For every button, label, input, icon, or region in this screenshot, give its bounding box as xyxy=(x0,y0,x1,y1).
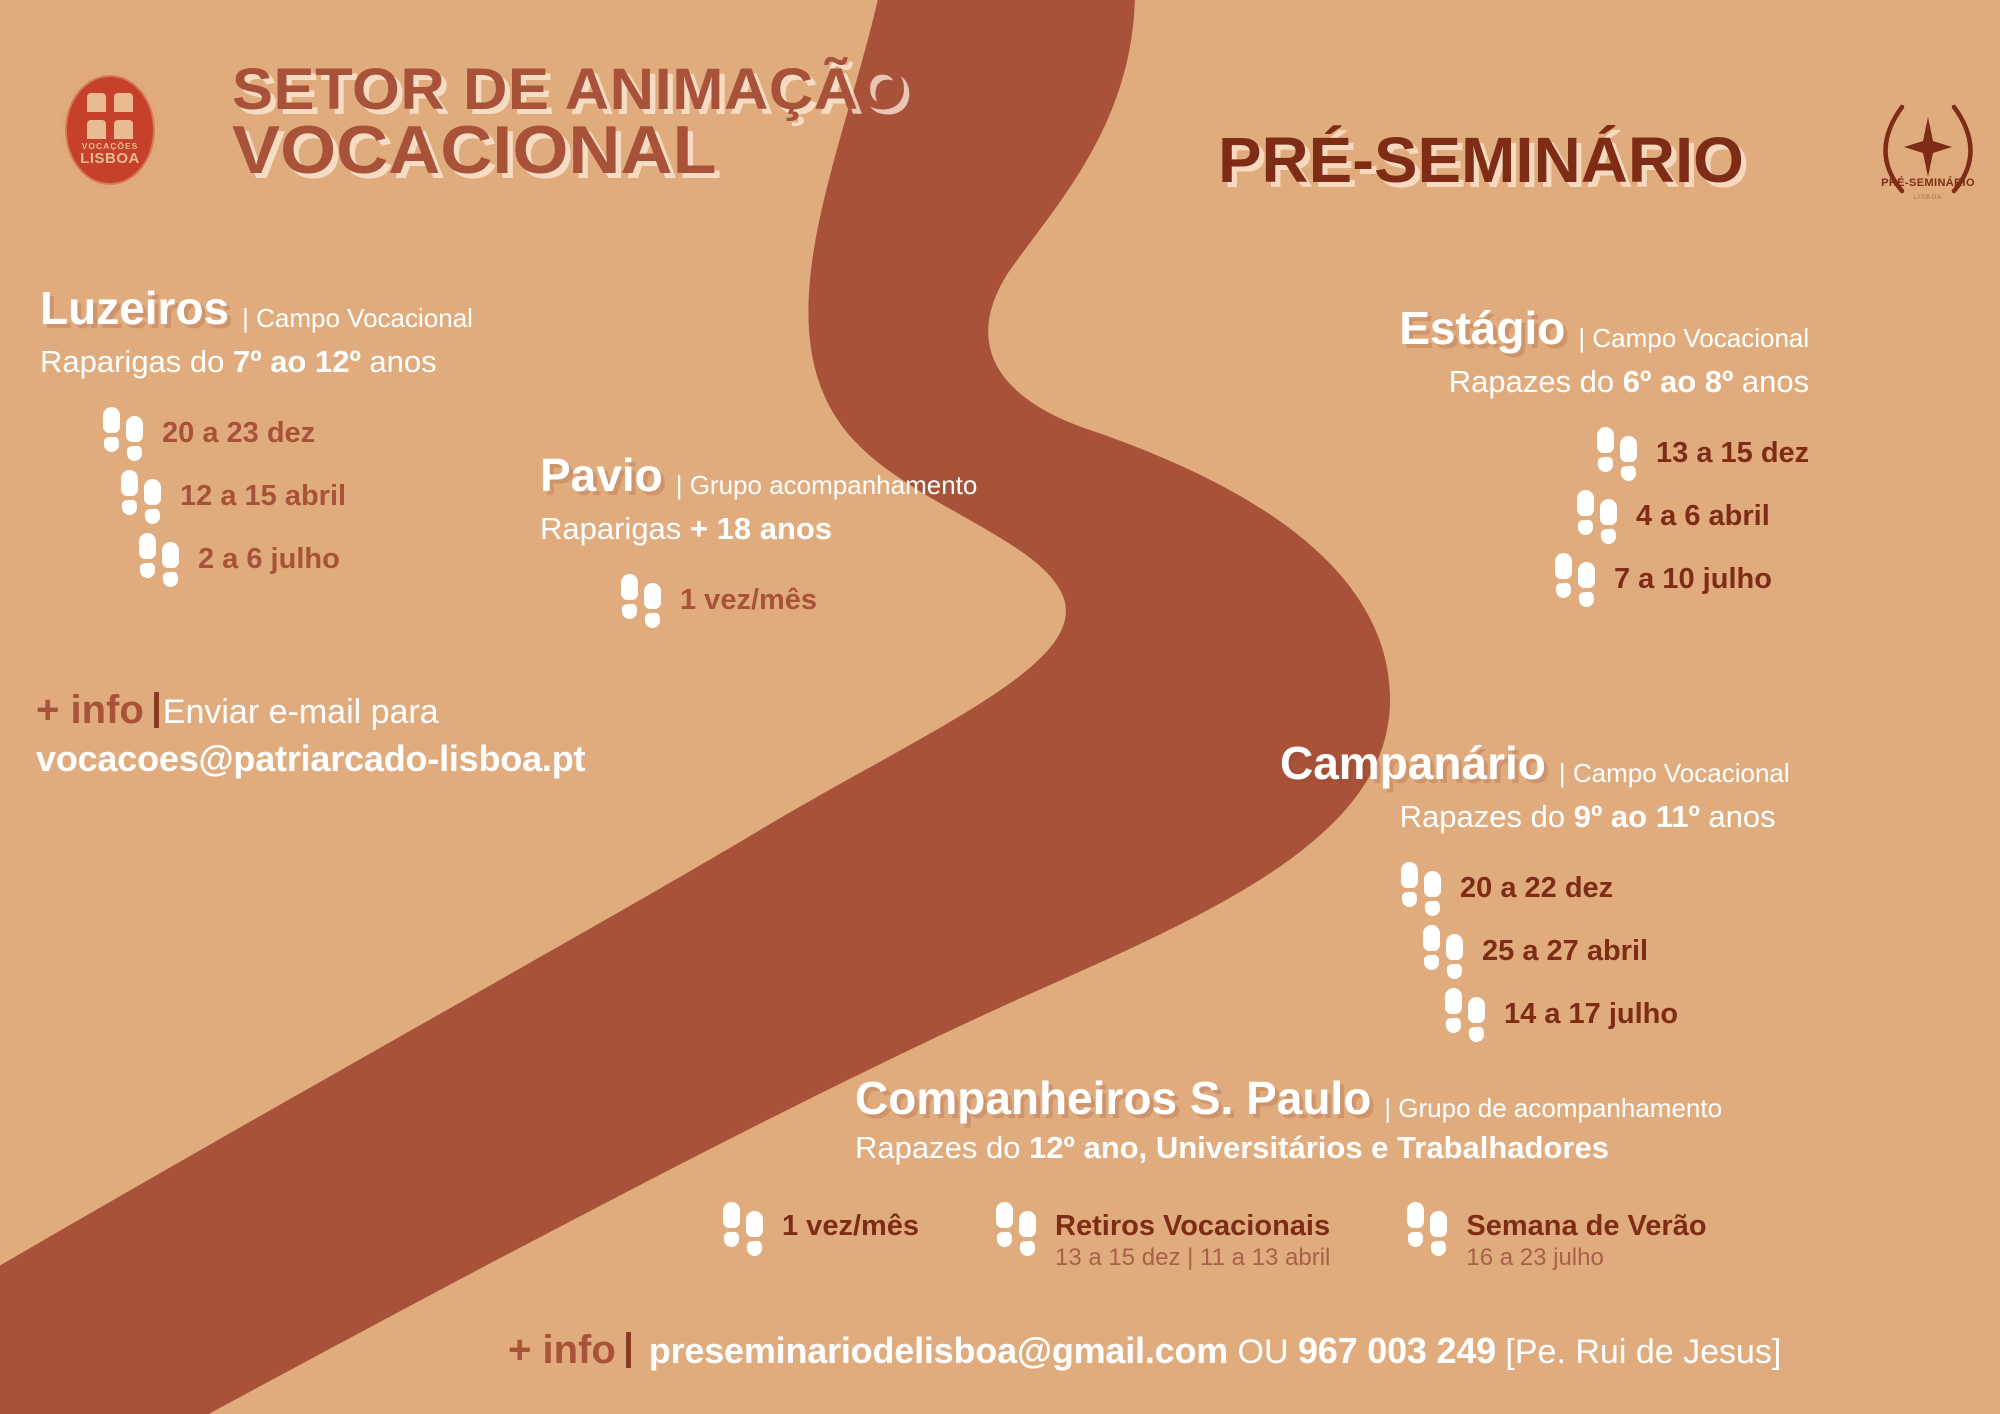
date-row: 12 a 15 abril xyxy=(120,468,473,524)
date-row: 1 vez/mês xyxy=(620,572,977,628)
footprints-icon xyxy=(138,531,184,587)
audience-prefix: Raparigas do xyxy=(40,344,233,379)
cross-icon xyxy=(87,93,133,139)
audience-bold: 6º ao 8º xyxy=(1623,364,1734,399)
divider xyxy=(626,1332,631,1368)
audience-suffix: anos xyxy=(361,344,437,379)
contact-email[interactable]: vocacoes@patriarcado-lisboa.pt xyxy=(36,738,585,780)
contact-person: [Pe. Rui de Jesus] xyxy=(1496,1333,1781,1371)
audience-bold: + 18 anos xyxy=(690,511,832,546)
audience-suffix: anos xyxy=(1700,799,1776,834)
program-kind: | Grupo acompanhamento xyxy=(676,472,978,498)
activity-note: 13 a 15 dez | 11 a 13 abril xyxy=(1055,1245,1330,1271)
date-text: 1 vez/mês xyxy=(680,586,817,615)
page-title: SETOR DE ANIMAÇÃO VOCACIONAL xyxy=(232,62,907,183)
program-kind: | Grupo de acompanhamento xyxy=(1384,1095,1722,1121)
date-list: 20 a 22 dez 25 a 27 abril 14 a 17 julho xyxy=(1280,860,1790,1042)
program-title: Luzeiros xyxy=(40,285,229,331)
logo-bottom-text: LISBOA xyxy=(80,151,140,167)
program-audience: Rapazes do 9º ao 11º anos xyxy=(1280,800,1790,834)
audience-prefix: Raparigas xyxy=(540,511,690,546)
date-row: 20 a 23 dez xyxy=(102,405,473,461)
program-audience: Raparigas + 18 anos xyxy=(540,512,977,546)
info-left-block: + infoEnviar e-mail para vocacoes@patria… xyxy=(36,690,585,780)
footprints-icon xyxy=(1400,860,1446,916)
poster: VOCAÇÕES LISBOA SETOR DE ANIMAÇÃO VOCACI… xyxy=(0,0,2000,1414)
program-audience: Rapazes do 6º ao 8º anos xyxy=(1380,365,1809,399)
date-text: 4 a 6 abril xyxy=(1636,502,1770,531)
date-text: 20 a 23 dez xyxy=(162,419,315,448)
activity-note: 16 a 23 julho xyxy=(1466,1245,1706,1271)
date-list: 20 a 23 dez 12 a 15 abril 2 a 6 julho xyxy=(40,405,473,587)
program-title: Pavio xyxy=(540,452,663,498)
footprints-icon xyxy=(995,1200,1041,1256)
date-list: 1 vez/mês xyxy=(540,572,977,628)
date-text: 7 a 10 julho xyxy=(1614,565,1772,594)
info-plus-label: + info xyxy=(36,688,144,732)
date-row: 7 a 10 julho xyxy=(1554,551,1809,607)
program-estagio: Estágio | Campo Vocacional Rapazes do 6º… xyxy=(1380,305,1809,614)
program-luzeiros: Luzeiros | Campo Vocacional Raparigas do… xyxy=(40,285,473,594)
activity-label: 1 vez/mês xyxy=(782,1200,919,1241)
audience-bold: 7º ao 12º xyxy=(233,344,361,379)
date-row: 20 a 22 dez xyxy=(1400,860,1790,916)
activity-label: Semana de Verão xyxy=(1466,1200,1706,1241)
program-campanario: Campanário | Campo Vocacional Rapazes do… xyxy=(1280,740,1790,1049)
date-list: 13 a 15 dez 4 a 6 abril 7 a 10 julho xyxy=(1380,425,1809,607)
footprints-icon xyxy=(1406,1200,1452,1256)
program-kind: | Campo Vocacional xyxy=(1578,325,1809,351)
date-text: 14 a 17 julho xyxy=(1504,1000,1678,1029)
footprints-icon xyxy=(1576,488,1622,544)
program-kind: | Campo Vocacional xyxy=(242,305,473,331)
vocacoes-lisboa-logo: VOCAÇÕES LISBOA xyxy=(62,72,158,188)
program-audience: Raparigas do 7º ao 12º anos xyxy=(40,345,473,379)
date-text: 20 a 22 dez xyxy=(1460,874,1613,903)
audience-prefix: Rapazes do xyxy=(1449,364,1623,399)
program-title: Estágio xyxy=(1399,305,1565,351)
footprints-icon xyxy=(120,468,166,524)
audience-suffix: anos xyxy=(1733,364,1809,399)
info-lead-text: Enviar e-mail para xyxy=(163,693,439,731)
footprints-icon xyxy=(1554,551,1600,607)
contact-phone[interactable]: 967 003 249 xyxy=(1298,1330,1496,1371)
date-text: 13 a 15 dez xyxy=(1656,439,1809,468)
companheiros-activities: 1 vez/mês Retiros Vocacionais 13 a 15 de… xyxy=(722,1200,1707,1271)
footprints-icon xyxy=(722,1200,768,1256)
footprints-icon xyxy=(1422,923,1468,979)
footprints-icon xyxy=(620,572,666,628)
date-text: 25 a 27 abril xyxy=(1482,937,1648,966)
activity-item: 1 vez/mês xyxy=(722,1200,919,1256)
footprints-icon xyxy=(1596,425,1642,481)
pre-seminario-logo-caption: PRÉ-SEMINÁRIO xyxy=(1872,177,1984,189)
info-bottom-block: + infopreseminariodelisboa@gmail.com OU … xyxy=(508,1330,1781,1372)
date-row: 4 a 6 abril xyxy=(1576,488,1809,544)
program-kind: | Campo Vocacional xyxy=(1559,760,1790,786)
program-companheiros-s-paulo: Companheiros S. Paulo | Grupo de acompan… xyxy=(855,1075,1722,1165)
divider xyxy=(154,692,159,728)
date-row: 2 a 6 julho xyxy=(138,531,473,587)
audience-bold: 9º ao 11º xyxy=(1574,799,1700,834)
footprints-icon xyxy=(102,405,148,461)
audience-bold: 12º ano, Universitários e Trabalhadores xyxy=(1029,1130,1609,1165)
pre-seminario-logo: PRÉ-SEMINÁRIO LISBOA xyxy=(1872,103,1984,223)
date-row: 14 a 17 julho xyxy=(1444,986,1790,1042)
activity-item: Semana de Verão 16 a 23 julho xyxy=(1406,1200,1706,1271)
title-line-2: VOCACIONAL xyxy=(232,118,907,183)
program-title: Campanário xyxy=(1280,740,1546,786)
date-row: 13 a 15 dez xyxy=(1596,425,1809,481)
program-pavio: Pavio | Grupo acompanhamento Raparigas +… xyxy=(540,452,977,635)
contact-email[interactable]: preseminariodelisboa@gmail.com xyxy=(649,1330,1228,1371)
date-text: 2 a 6 julho xyxy=(198,545,340,574)
date-text: 12 a 15 abril xyxy=(180,482,346,511)
program-audience: Rapazes do 12º ano, Universitários e Tra… xyxy=(855,1131,1722,1165)
pre-seminario-title: PRÉ-SEMINÁRIO xyxy=(1218,128,1744,192)
program-title: Companheiros S. Paulo xyxy=(855,1075,1371,1121)
pre-seminario-logo-subcaption: LISBOA xyxy=(1872,195,1984,201)
info-plus-label: + info xyxy=(508,1328,616,1372)
conjunction-text: OU xyxy=(1228,1333,1298,1371)
audience-prefix: Rapazes do xyxy=(1400,799,1574,834)
footprints-icon xyxy=(1444,986,1490,1042)
activity-label: Retiros Vocacionais xyxy=(1055,1200,1330,1241)
date-row: 25 a 27 abril xyxy=(1422,923,1790,979)
activity-item: Retiros Vocacionais 13 a 15 dez | 11 a 1… xyxy=(995,1200,1330,1271)
audience-prefix: Rapazes do xyxy=(855,1130,1029,1165)
